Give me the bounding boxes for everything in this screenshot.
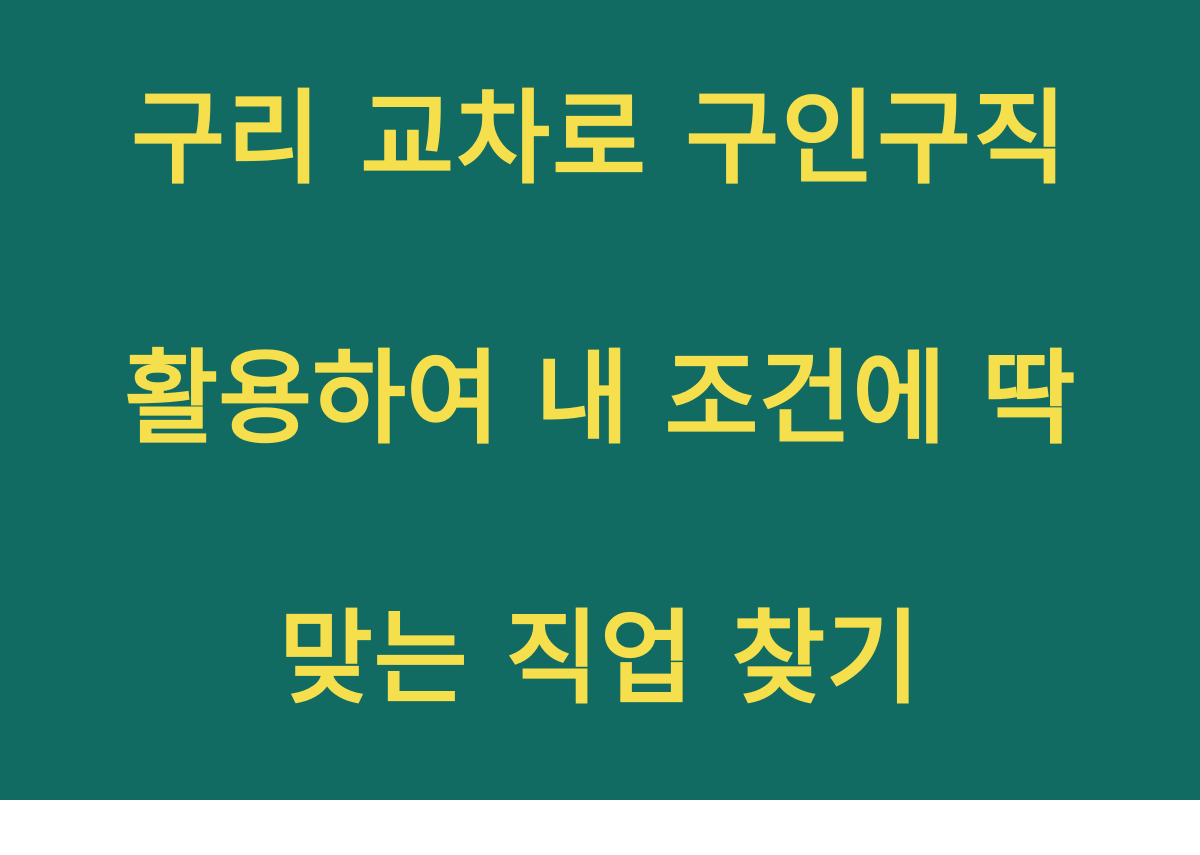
headline-line-2: 활용하여 내 조건에 딱 bbox=[40, 335, 1160, 465]
banner-canvas: 구리 교차로 구인구직 활용하여 내 조건에 딱 맞는 직업 찾기 bbox=[0, 0, 1200, 800]
headline-line-1: 구리 교차로 구인구직 bbox=[40, 75, 1160, 205]
page-title: 구리 교차로 구인구직 활용하여 내 조건에 딱 맞는 직업 찾기 bbox=[0, 0, 1200, 855]
headline-line-3: 맞는 직업 찾기 bbox=[40, 595, 1160, 725]
